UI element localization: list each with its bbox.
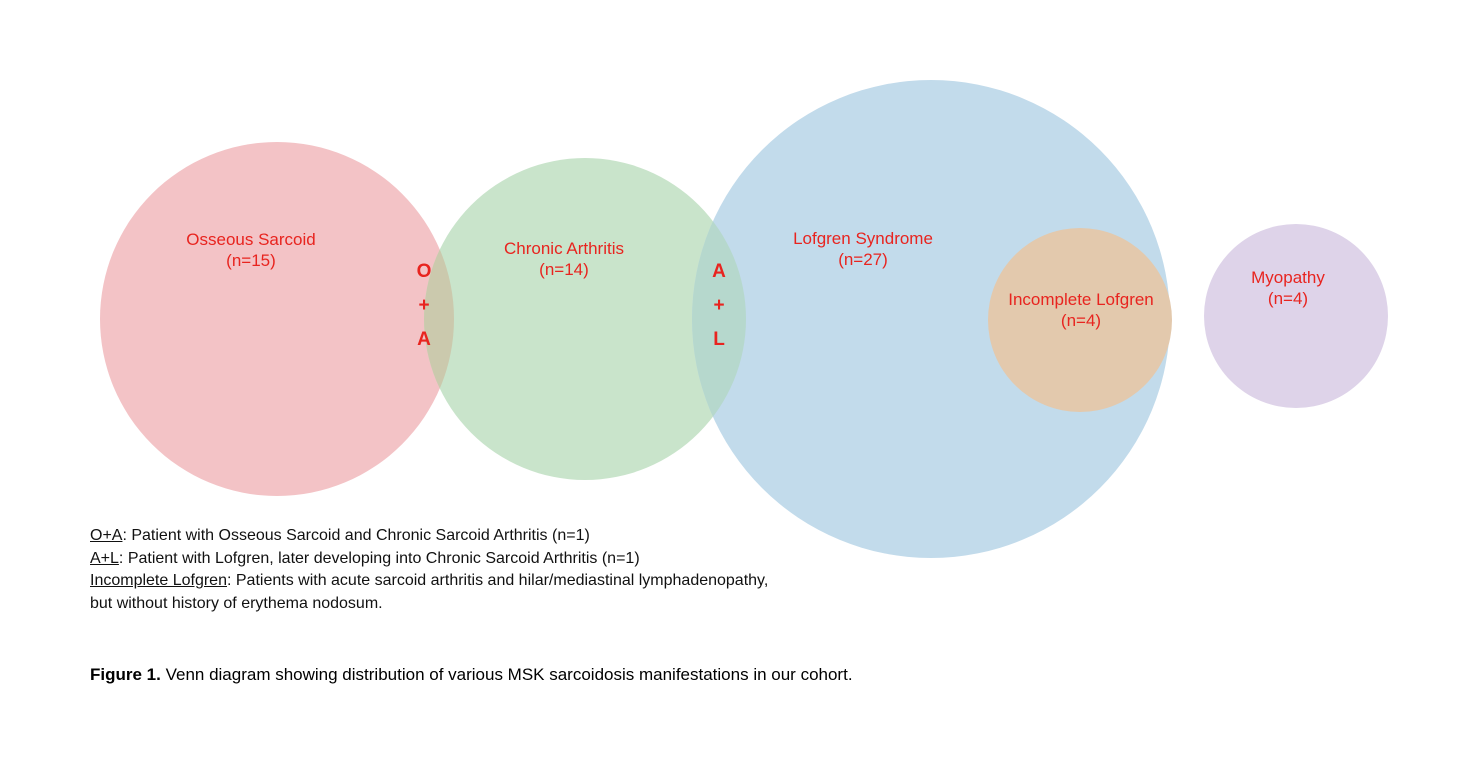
- legend: O+A: Patient with Osseous Sarcoid and Ch…: [90, 525, 790, 615]
- legend-line-incomplete-lofgren: Incomplete Lofgren: Patients with acute …: [90, 570, 790, 615]
- figure-caption-text: Venn diagram showing distribution of var…: [161, 665, 853, 684]
- venn-circle-osseous-sarcoid: [100, 142, 454, 496]
- legend-line-a-plus-l: A+L: Patient with Lofgren, later develop…: [90, 548, 790, 571]
- legend-line-o-plus-a: O+A: Patient with Osseous Sarcoid and Ch…: [90, 525, 790, 548]
- legend-key-o-plus-a: O+A: [90, 527, 122, 544]
- legend-key-incomplete-lofgren: Incomplete Lofgren: [90, 572, 227, 589]
- venn-circle-myopathy: [1204, 224, 1388, 408]
- legend-text-o-plus-a: : Patient with Osseous Sarcoid and Chron…: [122, 527, 589, 544]
- figure-caption-label: Figure 1.: [90, 665, 161, 684]
- figure-caption: Figure 1. Venn diagram showing distribut…: [90, 663, 853, 687]
- legend-key-a-plus-l: A+L: [90, 550, 119, 567]
- figure-container: Osseous Sarcoid (n=15) Chronic Arthritis…: [0, 0, 1464, 780]
- legend-text-a-plus-l: : Patient with Lofgren, later developing…: [119, 550, 640, 567]
- venn-diagram: [0, 0, 1464, 600]
- venn-circle-incomplete-lofgren: [988, 228, 1172, 412]
